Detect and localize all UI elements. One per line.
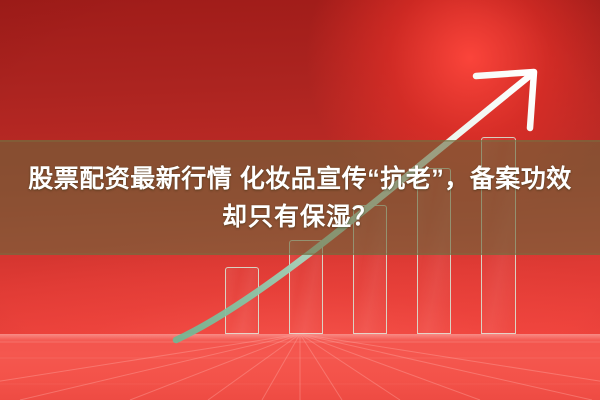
headline-line-2: 却只有保湿？ <box>222 201 378 233</box>
headline-line-1: 股票配资最新行情 化妆品宣传“抗老”，备案功效 <box>28 163 571 195</box>
headline: 股票配资最新行情 化妆品宣传“抗老”，备案功效 却只有保湿？ <box>0 140 600 255</box>
cover-image-canvas: 股票配资最新行情 化妆品宣传“抗老”，备案功效 却只有保湿？ <box>0 0 600 400</box>
